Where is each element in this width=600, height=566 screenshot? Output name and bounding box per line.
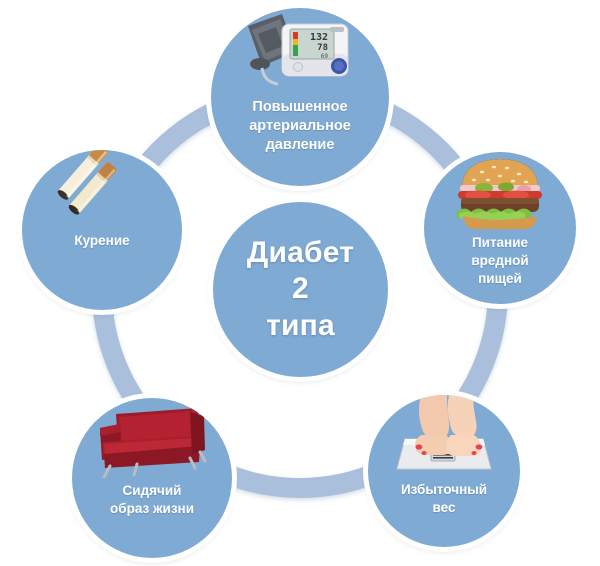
- node-overweight[interactable]: Избыточный вес: [368, 395, 520, 547]
- node-smoking[interactable]: Курение: [22, 150, 182, 310]
- node-label: Повышенное артериальное давление: [241, 96, 359, 155]
- node-junk-food[interactable]: Питание вредной пищей: [424, 152, 576, 304]
- node-center-diabetes-type-2[interactable]: Диабет 2 типа: [213, 202, 388, 377]
- blood-pressure-monitor-icon: 132 78 69: [211, 8, 389, 96]
- svg-text:132: 132: [310, 32, 328, 43]
- bathroom-scale-feet-icon: [368, 395, 520, 481]
- svg-text:69: 69: [321, 53, 329, 60]
- red-sofa-icon: [72, 398, 232, 482]
- node-label: Сидячий образ жизни: [102, 482, 202, 518]
- center-label: Диабет 2 типа: [239, 235, 362, 345]
- node-label: Курение: [66, 232, 137, 250]
- node-label: Питание вредной пищей: [463, 234, 536, 287]
- risk-factors-cycle-diagram: 132 78 69 Повышенное артериальное давлен…: [0, 0, 600, 566]
- node-high-blood-pressure[interactable]: 132 78 69 Повышенное артериальное давлен…: [211, 8, 389, 186]
- cigarettes-icon: [22, 150, 182, 232]
- node-sedentary-lifestyle[interactable]: Сидячий образ жизни: [72, 398, 232, 558]
- node-label: Избыточный вес: [393, 481, 495, 517]
- svg-text:78: 78: [317, 43, 328, 53]
- hamburger-icon: [424, 152, 576, 234]
